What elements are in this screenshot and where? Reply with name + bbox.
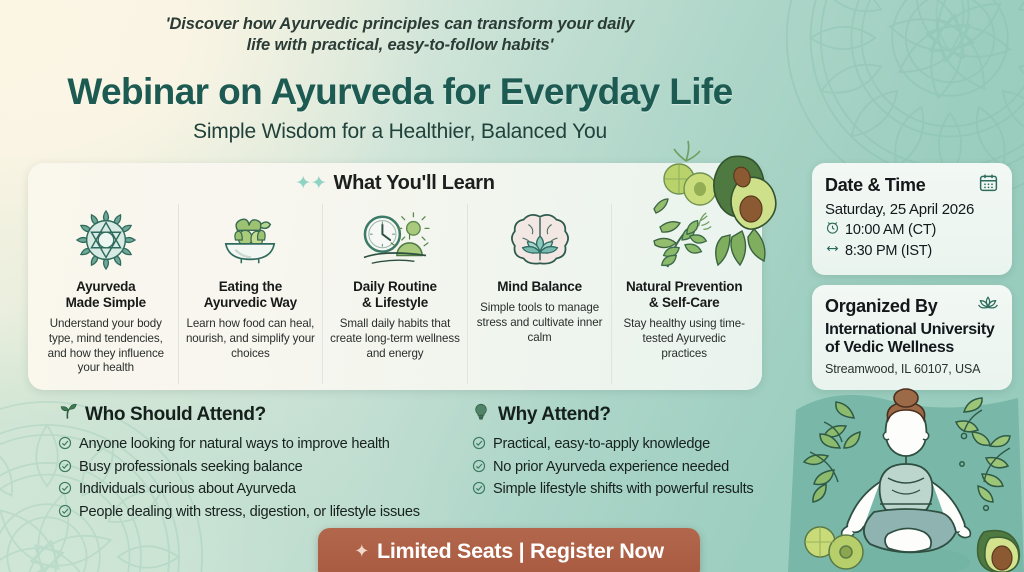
check-circle-icon <box>58 436 72 457</box>
who-should-attend-heading-row: Who Should Attend? <box>58 402 478 427</box>
learn-item-desc: Stay healthy using time-tested Ayurvedic… <box>618 317 750 361</box>
learn-item-desc: Simple tools to manage stress and cultiv… <box>474 301 606 345</box>
calendar-icon <box>978 172 999 198</box>
sparkles-icon: ✦ <box>354 541 369 562</box>
learn-heading: What You'll Learn <box>334 172 495 195</box>
organizer-address: Streamwood, IL 60107, USA <box>825 362 999 376</box>
page-subtitle: Simple Wisdom for a Healthier, Balanced … <box>0 120 800 144</box>
list-item-label: Anyone looking for natural ways to impro… <box>79 434 390 455</box>
list-item-label: Individuals curious about Ayurveda <box>79 479 296 500</box>
learn-item-title-line2: & Self-Care <box>649 295 720 310</box>
list-item: Individuals curious about Ayurveda <box>58 479 478 502</box>
learn-item-title: Mind Balance <box>497 279 582 295</box>
tagline-line-1: 'Discover how Ayurvedic principles can t… <box>0 14 800 35</box>
learn-item-title: Eating the Ayurvedic Way <box>204 279 297 311</box>
learn-item-title-line2: Made Simple <box>66 295 146 310</box>
organizer-name: International University of Vedic Wellne… <box>825 321 999 357</box>
learn-item-title-line2: & Lifestyle <box>362 295 428 310</box>
learn-columns: Ayurveda Made Simple Understand your bod… <box>34 204 756 384</box>
learn-heading-row: ✦✦ What You'll Learn <box>28 172 762 195</box>
check-circle-icon <box>58 481 72 502</box>
tagline-line-2: life with practical, easy-to-follow habi… <box>0 35 800 56</box>
date-time-title: Date & Time <box>825 175 925 196</box>
list-item-label: People dealing with stress, digestion, o… <box>79 502 420 523</box>
why-attend-section: Why Attend? Practical, easy-to-apply kno… <box>472 402 802 502</box>
event-time-primary: 10:00 AM (CT) <box>845 222 936 238</box>
learn-item-title-line1: Mind Balance <box>497 279 582 294</box>
why-attend-heading-row: Why Attend? <box>472 402 802 427</box>
who-should-attend-section: Who Should Attend? Anyone looking for na… <box>58 402 478 525</box>
check-circle-icon <box>472 459 486 480</box>
tagline: 'Discover how Ayurvedic principles can t… <box>0 14 800 57</box>
learn-item-desc: Learn how food can heal, nourish, and si… <box>185 317 317 361</box>
why-attend-heading: Why Attend? <box>498 404 611 426</box>
learn-item-title-line1: Ayurveda <box>76 279 135 294</box>
poster-canvas: 'Discover how Ayurvedic principles can t… <box>0 0 1024 572</box>
learn-item-ayurveda-made-simple: Ayurveda Made Simple Understand your bod… <box>34 204 179 384</box>
event-time-secondary-row: 8:30 PM (IST) <box>825 241 999 260</box>
organizer-name-line1: International University <box>825 321 994 338</box>
learn-item-desc: Understand your body type, mind tendenci… <box>40 317 172 376</box>
list-item-label: No prior Ayurveda experience needed <box>493 457 729 478</box>
date-time-card: Date & Time Saturday, 25 April 2026 <box>812 163 1012 275</box>
clock-sunrise-icon <box>358 204 432 276</box>
list-item: Practical, easy-to-apply knowledge <box>472 434 802 457</box>
salad-bowl-icon <box>216 204 284 276</box>
left-right-arrow-icon <box>825 241 840 260</box>
list-item: Busy professionals seeking balance <box>58 457 478 480</box>
event-time-primary-row: 10:00 AM (CT) <box>825 220 999 239</box>
learn-item-title-line1: Natural Prevention <box>626 279 742 294</box>
list-item: People dealing with stress, digestion, o… <box>58 502 478 525</box>
register-now-label: Limited Seats | Register Now <box>377 539 664 564</box>
date-time-title-row: Date & Time <box>825 172 999 198</box>
chakra-mandala-icon <box>75 204 137 276</box>
learn-item-title-line2: Ayurvedic Way <box>204 295 297 310</box>
page-title: Webinar on Ayurveda for Everyday Life <box>0 71 800 113</box>
organizer-name-line2: of Vedic Wellness <box>825 339 954 356</box>
organized-by-card: Organized By International University of… <box>812 285 1012 390</box>
check-circle-icon <box>58 459 72 480</box>
sparkles-icon: ✦✦ <box>295 174 326 193</box>
list-item-label: Practical, easy-to-apply knowledge <box>493 434 710 455</box>
learn-item-mind-balance: Mind Balance Simple tools to manage stre… <box>468 204 613 384</box>
learn-item-eating-the-ayurvedic-way: Eating the Ayurvedic Way Learn how food … <box>179 204 324 384</box>
learn-item-title-line1: Eating the <box>219 279 282 294</box>
event-date: Saturday, 25 April 2026 <box>825 201 999 218</box>
register-now-button[interactable]: ✦ Limited Seats | Register Now <box>318 528 700 572</box>
learn-item-title: Ayurveda Made Simple <box>66 279 146 311</box>
list-item-label: Busy professionals seeking balance <box>79 457 303 478</box>
list-item: No prior Ayurveda experience needed <box>472 457 802 480</box>
who-should-attend-list: Anyone looking for natural ways to impro… <box>58 434 478 525</box>
list-item: Anyone looking for natural ways to impro… <box>58 434 478 457</box>
check-circle-icon <box>58 504 72 525</box>
learn-item-natural-prevention-self-care: Natural Prevention & Self-Care Stay heal… <box>612 204 756 384</box>
list-item-label: Simple lifestyle shifts with powerful re… <box>493 479 753 500</box>
learn-item-desc: Small daily habits that create long-term… <box>329 317 461 361</box>
herb-branch-icon <box>649 204 719 276</box>
check-circle-icon <box>472 481 486 502</box>
brain-lotus-icon <box>508 204 572 276</box>
lotus-icon <box>977 294 999 319</box>
event-time-secondary: 8:30 PM (IST) <box>845 243 932 259</box>
who-should-attend-heading: Who Should Attend? <box>85 404 266 426</box>
check-circle-icon <box>472 436 486 457</box>
alarm-clock-icon <box>825 220 840 239</box>
why-attend-list: Practical, easy-to-apply knowledge No pr… <box>472 434 802 502</box>
woman-lotus-pose-illustration <box>788 386 1024 572</box>
learn-item-title-line1: Daily Routine <box>353 279 437 294</box>
what-youll-learn-card: ✦✦ What You'll Learn <box>28 163 762 390</box>
organized-by-title: Organized By <box>825 296 937 317</box>
learn-item-title: Natural Prevention & Self-Care <box>626 279 742 311</box>
seedling-icon <box>58 402 77 427</box>
poster-header: 'Discover how Ayurvedic principles can t… <box>0 0 800 144</box>
list-item: Simple lifestyle shifts with powerful re… <box>472 479 802 502</box>
lightbulb-icon <box>472 402 490 427</box>
learn-item-daily-routine-lifestyle: Daily Routine & Lifestyle Small daily ha… <box>323 204 468 384</box>
organized-by-title-row: Organized By <box>825 294 999 319</box>
learn-item-title: Daily Routine & Lifestyle <box>353 279 437 311</box>
